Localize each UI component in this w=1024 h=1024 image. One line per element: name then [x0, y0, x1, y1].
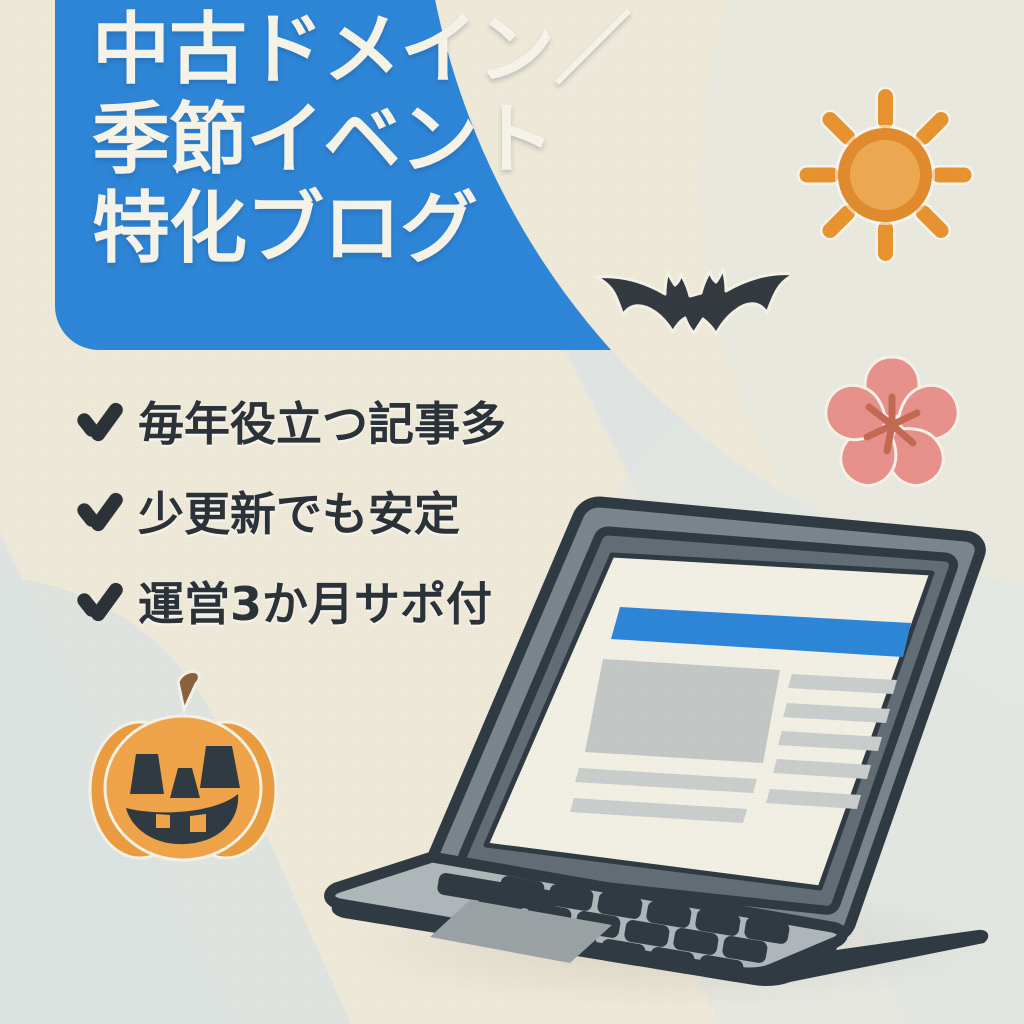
feature-label: 毎年役立つ記事多: [138, 388, 506, 454]
sun-disc: [838, 128, 932, 222]
sun-icon: [785, 75, 985, 275]
check-icon: [74, 488, 120, 534]
bat-icon: [590, 258, 790, 378]
list-item: 毎年役立つ記事多: [74, 392, 634, 450]
feature-label: 運営3か月サポ付: [138, 568, 492, 634]
page-title: 中古ドメイン／ 季節イベント 特化ブログ: [92, 6, 712, 275]
check-icon: [74, 398, 120, 444]
jack-o-lantern-icon: [78, 662, 288, 877]
feature-label: 少更新でも安定: [138, 478, 460, 544]
feature-list: 毎年役立つ記事多 少更新でも安定 運営3か月サポ付: [74, 392, 634, 662]
check-icon: [74, 578, 120, 624]
poster-canvas: 中古ドメイン／ 季節イベント 特化ブログ: [0, 0, 1024, 1024]
list-item: 運営3か月サポ付: [74, 572, 634, 630]
list-item: 少更新でも安定: [74, 482, 634, 540]
